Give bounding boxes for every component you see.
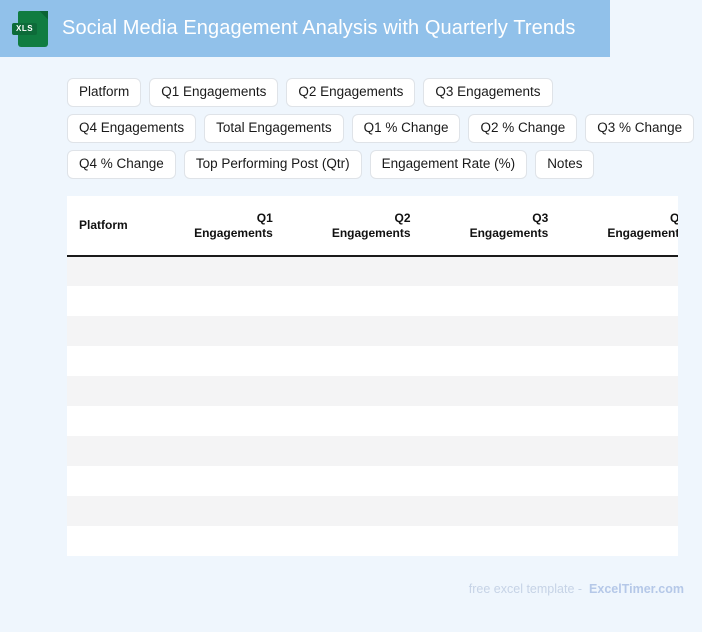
column-header-q2-engagements[interactable]: Q2Engagements (283, 196, 421, 256)
table-cell[interactable] (421, 496, 559, 526)
chip-engagement-rate[interactable]: Engagement Rate (%) (370, 150, 528, 179)
chip-q3-pct-change[interactable]: Q3 % Change (585, 114, 694, 143)
table-header-row: PlatformQ1EngagementsQ2EngagementsQ3Enga… (67, 196, 678, 256)
table-cell[interactable] (421, 406, 559, 436)
table-cell[interactable] (558, 286, 678, 316)
table-cell[interactable] (283, 496, 421, 526)
chip-q4-engagements[interactable]: Q4 Engagements (67, 114, 196, 143)
chip-q1-pct-change[interactable]: Q1 % Change (352, 114, 461, 143)
table-row[interactable] (67, 496, 678, 526)
chip-platform[interactable]: Platform (67, 78, 141, 107)
file-icon-label: XLS (12, 23, 37, 35)
table-row[interactable] (67, 316, 678, 346)
table-cell[interactable] (283, 316, 421, 346)
page-title: Social Media Engagement Analysis with Qu… (62, 17, 575, 40)
table-cell[interactable] (421, 466, 559, 496)
table-row[interactable] (67, 286, 678, 316)
table-row[interactable] (67, 466, 678, 496)
table-cell[interactable] (283, 466, 421, 496)
table-cell[interactable] (145, 526, 283, 556)
column-header-q3-engagements[interactable]: Q3Engagements (421, 196, 559, 256)
column-header-platform[interactable]: Platform (67, 196, 145, 256)
table-cell[interactable] (67, 526, 145, 556)
table-cell[interactable] (421, 256, 559, 286)
column-header-line2: Engagements (566, 226, 678, 241)
column-header-line1: Q4 (566, 211, 678, 226)
table-cell[interactable] (421, 346, 559, 376)
table-cell[interactable] (145, 466, 283, 496)
table-cell[interactable] (283, 286, 421, 316)
chip-q2-pct-change[interactable]: Q2 % Change (468, 114, 577, 143)
chip-q4-pct-change[interactable]: Q4 % Change (67, 150, 176, 179)
table-row[interactable] (67, 376, 678, 406)
table-cell[interactable] (558, 346, 678, 376)
table-row[interactable] (67, 406, 678, 436)
column-chip-list: Platform Q1 Engagements Q2 Engagements Q… (67, 78, 667, 186)
chip-row-2: Q4 Engagements Total Engagements Q1 % Ch… (67, 114, 667, 143)
table-cell[interactable] (558, 436, 678, 466)
table-cell[interactable] (145, 376, 283, 406)
table-cell[interactable] (145, 346, 283, 376)
table-cell[interactable] (67, 436, 145, 466)
table-cell[interactable] (558, 496, 678, 526)
table-cell[interactable] (67, 406, 145, 436)
chip-q2-engagements[interactable]: Q2 Engagements (286, 78, 415, 107)
table-cell[interactable] (558, 376, 678, 406)
table-row[interactable] (67, 526, 678, 556)
app-header: XLS Social Media Engagement Analysis wit… (0, 0, 610, 57)
table-row[interactable] (67, 346, 678, 376)
table-cell[interactable] (421, 316, 559, 346)
table-cell[interactable] (145, 256, 283, 286)
table-cell[interactable] (67, 496, 145, 526)
xls-file-icon: XLS (18, 11, 48, 47)
table-cell[interactable] (67, 376, 145, 406)
chip-notes[interactable]: Notes (535, 150, 594, 179)
table-cell[interactable] (283, 376, 421, 406)
table-cell[interactable] (145, 316, 283, 346)
table-cell[interactable] (558, 406, 678, 436)
table-cell[interactable] (421, 376, 559, 406)
chip-top-performing-post[interactable]: Top Performing Post (Qtr) (184, 150, 362, 179)
table-head: PlatformQ1EngagementsQ2EngagementsQ3Enga… (67, 196, 678, 256)
table-cell[interactable] (558, 316, 678, 346)
chip-q3-engagements[interactable]: Q3 Engagements (423, 78, 552, 107)
footer-credit: free excel template - ExcelTimer.com (469, 582, 684, 596)
table-cell[interactable] (283, 526, 421, 556)
table-cell[interactable] (67, 286, 145, 316)
table-cell[interactable] (283, 256, 421, 286)
table-cell[interactable] (145, 286, 283, 316)
table-cell[interactable] (558, 256, 678, 286)
table-cell[interactable] (145, 496, 283, 526)
column-header-line2: Engagements (291, 226, 411, 241)
column-header-line1: Q3 (429, 211, 549, 226)
column-header-line1: Q1 (153, 211, 273, 226)
footer-brand-link[interactable]: ExcelTimer.com (589, 582, 684, 596)
table-cell[interactable] (67, 316, 145, 346)
column-header-line2: Engagements (429, 226, 549, 241)
table-cell[interactable] (145, 406, 283, 436)
table-cell[interactable] (67, 256, 145, 286)
table-cell[interactable] (67, 466, 145, 496)
table-cell[interactable] (67, 346, 145, 376)
chip-row-1: Platform Q1 Engagements Q2 Engagements Q… (67, 78, 667, 107)
data-table-container[interactable]: PlatformQ1EngagementsQ2EngagementsQ3Enga… (67, 196, 678, 556)
chip-row-3: Q4 % Change Top Performing Post (Qtr) En… (67, 150, 667, 179)
table-row[interactable] (67, 256, 678, 286)
column-header-line1: Q2 (291, 211, 411, 226)
table-cell[interactable] (145, 436, 283, 466)
chip-total-engagements[interactable]: Total Engagements (204, 114, 344, 143)
table-cell[interactable] (421, 436, 559, 466)
table-cell[interactable] (283, 406, 421, 436)
table-body (67, 256, 678, 556)
table-cell[interactable] (558, 466, 678, 496)
table-cell[interactable] (421, 286, 559, 316)
table-cell[interactable] (558, 526, 678, 556)
column-header-q4-engagements[interactable]: Q4Engagements (558, 196, 678, 256)
table-cell[interactable] (421, 526, 559, 556)
table-cell[interactable] (283, 346, 421, 376)
table-row[interactable] (67, 436, 678, 466)
engagement-data-table: PlatformQ1EngagementsQ2EngagementsQ3Enga… (67, 196, 678, 556)
column-header-line2: Engagements (153, 226, 273, 241)
column-header-q1-engagements[interactable]: Q1Engagements (145, 196, 283, 256)
footer-prefix-text: free excel template - (469, 582, 582, 596)
chip-q1-engagements[interactable]: Q1 Engagements (149, 78, 278, 107)
table-cell[interactable] (283, 436, 421, 466)
